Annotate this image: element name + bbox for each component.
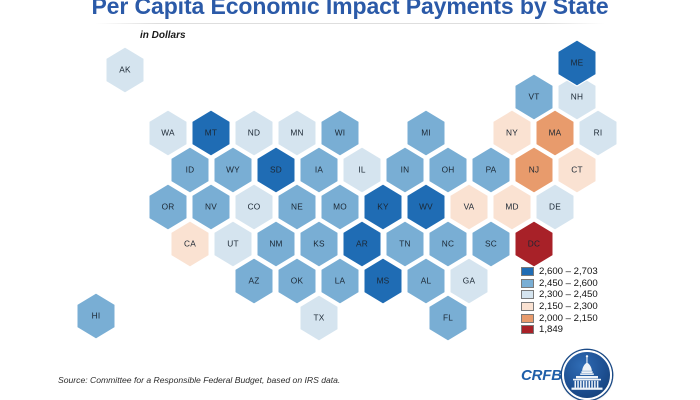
hex-state-nc[interactable]: NC — [429, 221, 467, 267]
hex-state-label: ND — [248, 128, 260, 138]
legend-label: 2,600 – 2,703 — [539, 266, 598, 277]
hex-state-oh[interactable]: OH — [429, 147, 467, 193]
hex-state-ms[interactable]: MS — [364, 258, 402, 304]
hex-state-nj[interactable]: NJ — [515, 147, 553, 193]
hex-state-sd[interactable]: SD — [257, 147, 295, 193]
hex-state-ny[interactable]: NY — [493, 110, 531, 156]
hex-state-label: NV — [205, 202, 217, 212]
hex-state-label: FL — [443, 313, 453, 323]
legend-swatch — [521, 325, 534, 334]
legend-swatch — [521, 302, 534, 311]
hex-state-label: WY — [226, 165, 240, 175]
hex-state-label: AZ — [248, 276, 259, 286]
hex-state-label: MN — [290, 128, 303, 138]
hex-state-label: MI — [421, 128, 431, 138]
legend-label: 2,300 – 2,450 — [539, 289, 598, 300]
hex-state-label: OH — [442, 165, 455, 175]
hex-state-fl[interactable]: FL — [429, 295, 467, 341]
hex-state-de[interactable]: DE — [536, 184, 574, 230]
hex-state-ar[interactable]: AR — [343, 221, 381, 267]
hex-state-md[interactable]: MD — [493, 184, 531, 230]
hex-state-label: LA — [335, 276, 346, 286]
hex-state-mt[interactable]: MT — [192, 110, 230, 156]
hex-state-label: MO — [333, 202, 347, 212]
hex-state-mn[interactable]: MN — [278, 110, 316, 156]
hex-state-label: ME — [571, 58, 584, 68]
legend-swatch — [521, 290, 534, 299]
hex-state-ak[interactable]: AK — [106, 47, 144, 93]
hex-state-sc[interactable]: SC — [472, 221, 510, 267]
hex-state-label: TN — [399, 239, 410, 249]
hex-state-label: ID — [186, 165, 195, 175]
infographic-canvas: Per Capita Economic Impact Payments by S… — [0, 0, 700, 400]
hex-state-ut[interactable]: UT — [214, 221, 252, 267]
hex-state-label: MS — [377, 276, 390, 286]
legend-label: 1,849 — [539, 324, 563, 335]
hex-state-va[interactable]: VA — [450, 184, 488, 230]
hex-state-ct[interactable]: CT — [558, 147, 596, 193]
hex-state-label: MT — [205, 128, 217, 138]
hex-state-nd[interactable]: ND — [235, 110, 273, 156]
hex-state-label: KY — [377, 202, 389, 212]
hex-state-ma[interactable]: MA — [536, 110, 574, 156]
hex-state-la[interactable]: LA — [321, 258, 359, 304]
hex-state-label: OR — [162, 202, 175, 212]
hex-state-label: PA — [486, 165, 497, 175]
hex-state-mo[interactable]: MO — [321, 184, 359, 230]
hex-state-ok[interactable]: OK — [278, 258, 316, 304]
legend-swatch — [521, 314, 534, 323]
hex-state-label: CT — [571, 165, 582, 175]
hex-state-label: SC — [485, 239, 497, 249]
source-note: Source: Committee for a Responsible Fede… — [58, 375, 340, 385]
hex-state-vt[interactable]: VT — [515, 74, 553, 120]
hex-state-ca[interactable]: CA — [171, 221, 209, 267]
hex-state-label: IA — [315, 165, 324, 175]
legend-item: 1,849 — [521, 324, 598, 336]
hex-state-label: GA — [463, 276, 476, 286]
hex-state-or[interactable]: OR — [149, 184, 187, 230]
hex-state-label: MD — [505, 202, 518, 212]
hex-state-dc[interactable]: DC — [515, 221, 553, 267]
hex-state-wa[interactable]: WA — [149, 110, 187, 156]
legend-item: 2,600 – 2,703 — [521, 266, 598, 278]
hex-state-al[interactable]: AL — [407, 258, 445, 304]
legend-label: 2,150 – 2,300 — [539, 301, 598, 312]
hex-state-label: MA — [549, 128, 562, 138]
hex-state-nv[interactable]: NV — [192, 184, 230, 230]
hex-state-label: AR — [356, 239, 368, 249]
hex-state-label: UT — [227, 239, 238, 249]
hex-state-ri[interactable]: RI — [579, 110, 617, 156]
hex-state-pa[interactable]: PA — [472, 147, 510, 193]
legend-item: 2,450 – 2,600 — [521, 278, 598, 290]
legend-item: 2,150 – 2,300 — [521, 301, 598, 313]
hex-state-hi[interactable]: HI — [77, 293, 115, 339]
legend-label: 2,000 – 2,150 — [539, 313, 598, 324]
hex-state-label: NM — [269, 239, 282, 249]
legend-swatch — [521, 279, 534, 288]
hex-state-label: IN — [401, 165, 410, 175]
legend-item: 2,000 – 2,150 — [521, 312, 598, 324]
hex-state-tn[interactable]: TN — [386, 221, 424, 267]
hex-state-ia[interactable]: IA — [300, 147, 338, 193]
hex-state-in[interactable]: IN — [386, 147, 424, 193]
hex-state-label: NC — [442, 239, 454, 249]
hex-state-ga[interactable]: GA — [450, 258, 488, 304]
hex-state-label: OK — [291, 276, 304, 286]
hex-state-co[interactable]: CO — [235, 184, 273, 230]
hex-state-nm[interactable]: NM — [257, 221, 295, 267]
hex-state-az[interactable]: AZ — [235, 258, 273, 304]
hex-state-label: VA — [464, 202, 475, 212]
hex-state-label: WA — [161, 128, 175, 138]
hex-map-svg: AKWAMTNDMNWIMINYMARIVTNHMEIDWYSDIAILINOH… — [0, 0, 700, 400]
hex-state-wi[interactable]: WI — [321, 110, 359, 156]
hex-state-mi[interactable]: MI — [407, 110, 445, 156]
legend-label: 2,450 – 2,600 — [539, 278, 598, 289]
hex-state-label: NJ — [529, 165, 540, 175]
hex-state-me[interactable]: ME — [558, 40, 596, 86]
legend: 2,600 – 2,7032,450 – 2,6002,300 – 2,4502… — [521, 266, 598, 336]
hex-state-label: TX — [313, 313, 324, 323]
hex-state-ky[interactable]: KY — [364, 184, 402, 230]
hex-state-label: IL — [358, 165, 366, 175]
hex-state-label: VT — [528, 92, 539, 102]
hex-state-label: KS — [313, 239, 325, 249]
hex-cartogram-map: AKWAMTNDMNWIMINYMARIVTNHMEIDWYSDIAILINOH… — [0, 0, 700, 400]
legend-item: 2,300 – 2,450 — [521, 289, 598, 301]
hex-state-label: CA — [184, 239, 196, 249]
hex-state-label: SD — [270, 165, 282, 175]
hex-state-label: AK — [119, 65, 131, 75]
hex-state-ne[interactable]: NE — [278, 184, 316, 230]
hex-state-wy[interactable]: WY — [214, 147, 252, 193]
hex-state-tx[interactable]: TX — [300, 295, 338, 341]
legend-swatch — [521, 267, 534, 276]
hex-state-label: HI — [92, 311, 101, 321]
hex-state-id[interactable]: ID — [171, 147, 209, 193]
hex-state-label: DE — [549, 202, 561, 212]
hex-state-label: WV — [419, 202, 433, 212]
hex-state-ks[interactable]: KS — [300, 221, 338, 267]
capitol-dome-icon — [562, 350, 612, 400]
hex-state-label: NE — [291, 202, 303, 212]
hex-state-wv[interactable]: WV — [407, 184, 445, 230]
hex-state-label: DC — [528, 239, 540, 249]
hex-state-label: RI — [594, 128, 603, 138]
hex-state-label: CO — [248, 202, 261, 212]
hex-state-il[interactable]: IL — [343, 147, 381, 193]
hex-state-label: WI — [335, 128, 346, 138]
hex-state-label: NY — [506, 128, 518, 138]
hex-state-label: AL — [421, 276, 432, 286]
hex-state-label: NH — [571, 92, 583, 102]
